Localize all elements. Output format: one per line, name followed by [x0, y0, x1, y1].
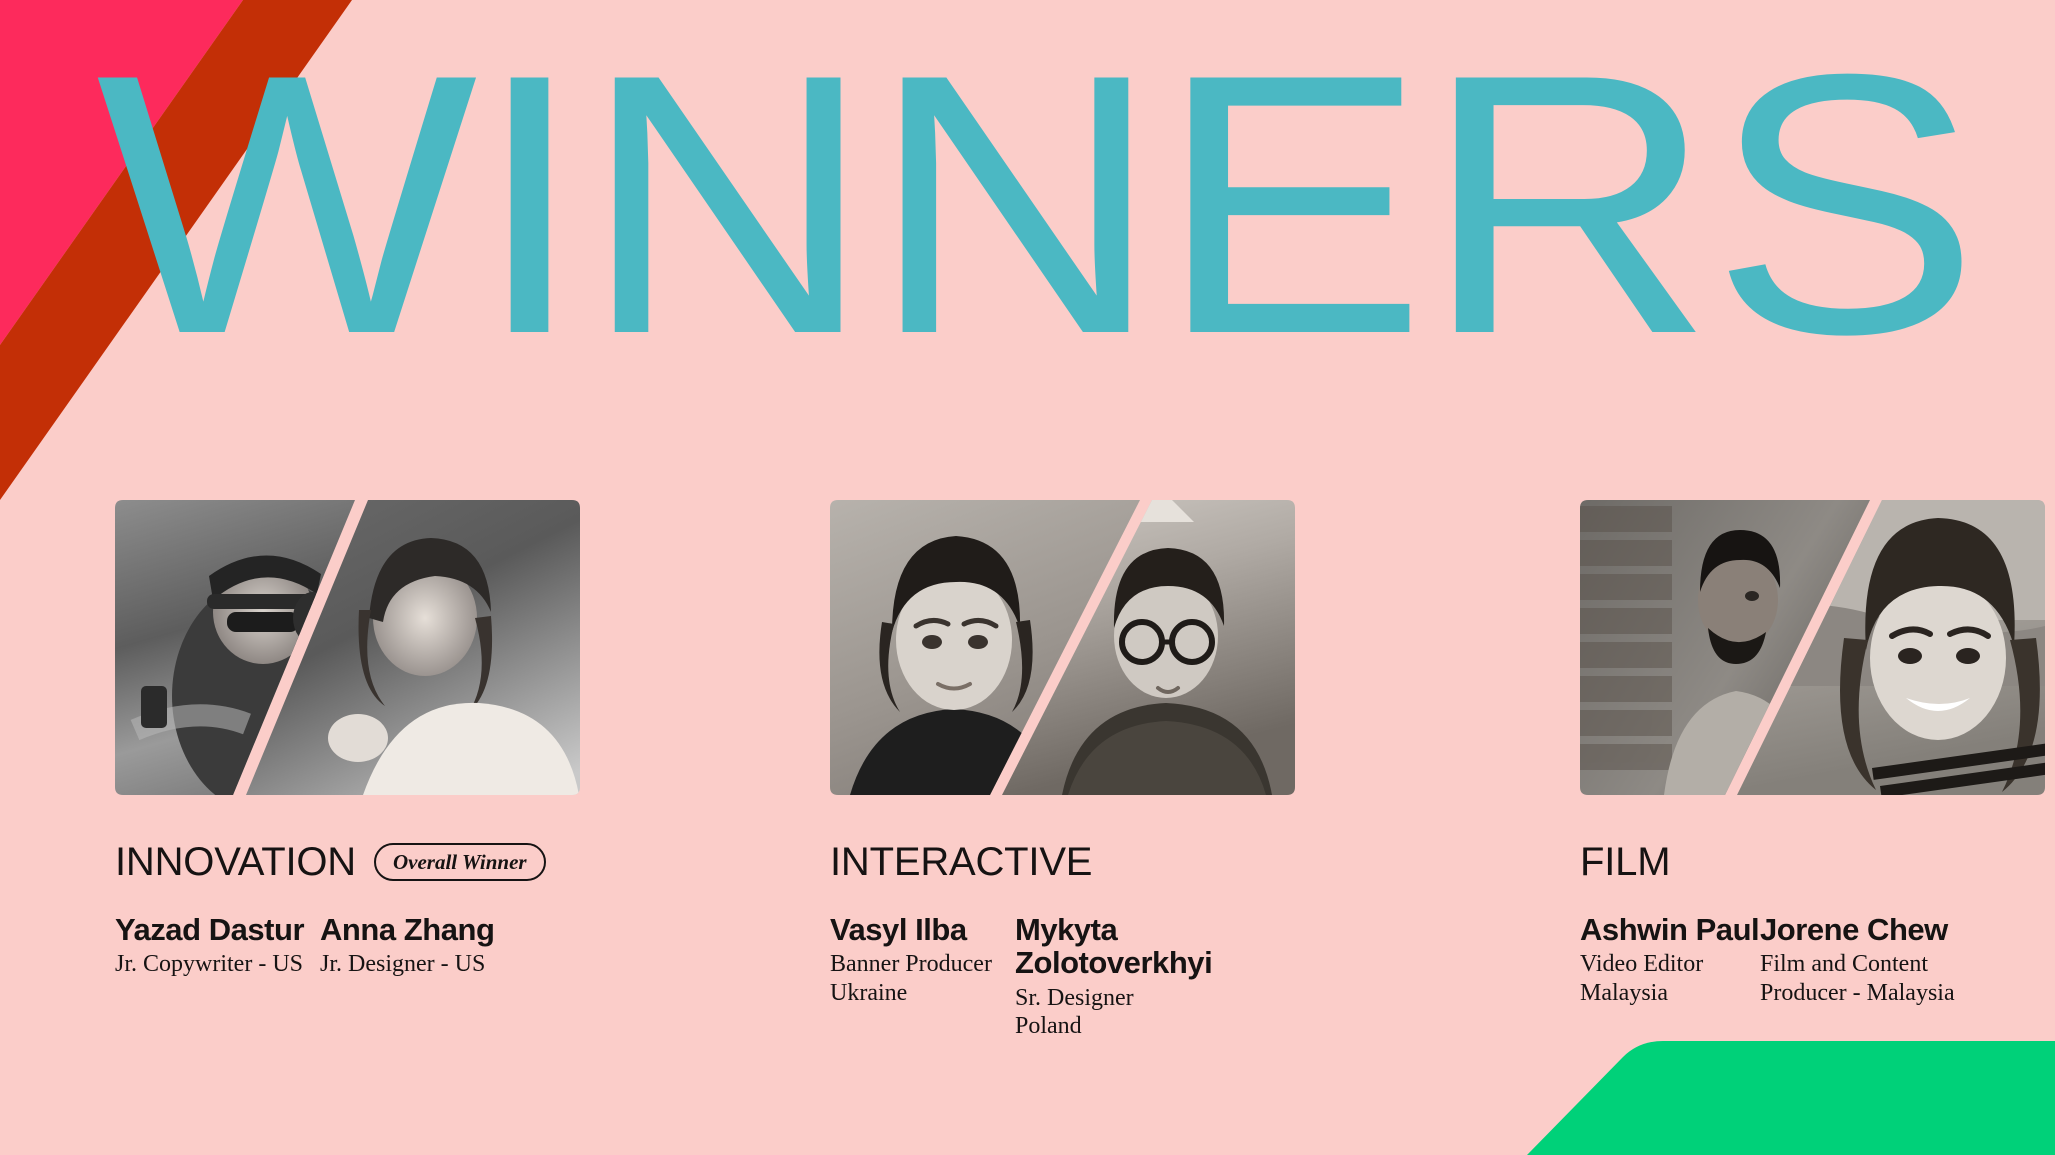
- category-heading-row: FILM: [1580, 839, 2055, 885]
- winner-role: Banner Producer Ukraine: [830, 950, 1015, 1007]
- winner-entry: Jorene Chew Film and Content Producer - …: [1760, 913, 1955, 1007]
- winner-entry: Anna Zhang Jr. Designer - US: [320, 913, 494, 979]
- winner-entry: Ashwin Paul Video Editor Malaysia: [1580, 913, 1760, 1007]
- winner-column-innovation: INNOVATION Overall Winner Yazad Dastur J…: [0, 500, 715, 1100]
- page-title: WINNERS: [96, 40, 1996, 370]
- headline-text: WINNERS: [96, 40, 1976, 370]
- winner-name: Vasyl Ilba: [830, 913, 1015, 946]
- category-heading-row: INNOVATION Overall Winner: [115, 839, 715, 885]
- category-title: INTERACTIVE: [830, 842, 1092, 882]
- winner-column-interactive: INTERACTIVE Vasyl Ilba Banner Producer U…: [715, 500, 1500, 1100]
- winner-list: Ashwin Paul Video Editor Malaysia Jorene…: [1580, 913, 2055, 1007]
- photo-pair-card: [1580, 500, 2045, 795]
- winner-column-film: FILM Ashwin Paul Video Editor Malaysia J…: [1500, 500, 2055, 1100]
- category-heading-row: INTERACTIVE: [830, 839, 1500, 885]
- winner-list: Yazad Dastur Jr. Copywriter - US Anna Zh…: [115, 913, 715, 979]
- winner-name: Mykyta Zolotoverkhyi: [1015, 913, 1212, 980]
- winner-entry: Mykyta Zolotoverkhyi Sr. Designer Poland: [1015, 913, 1212, 1041]
- winner-entry: Vasyl Ilba Banner Producer Ukraine: [830, 913, 1015, 1041]
- winner-name: Jorene Chew: [1760, 913, 1955, 946]
- winner-role: Jr. Designer - US: [320, 950, 494, 978]
- winner-role: Sr. Designer Poland: [1015, 984, 1212, 1041]
- winner-name: Anna Zhang: [320, 913, 494, 946]
- photo-pair-card: [830, 500, 1295, 795]
- winner-role: Film and Content Producer - Malaysia: [1760, 950, 1955, 1007]
- winner-name: Yazad Dastur: [115, 913, 320, 946]
- winner-list: Vasyl Ilba Banner Producer Ukraine Mykyt…: [830, 913, 1500, 1041]
- winner-role: Video Editor Malaysia: [1580, 950, 1760, 1007]
- winners-poster: WINNERS: [0, 0, 2055, 1155]
- winner-role: Jr. Copywriter - US: [115, 950, 320, 978]
- status-badge: Overall Winner: [374, 843, 546, 881]
- photo-pair-card: [115, 500, 580, 795]
- category-title: INNOVATION: [115, 842, 356, 882]
- winner-columns: INNOVATION Overall Winner Yazad Dastur J…: [0, 500, 2055, 1100]
- winner-name: Ashwin Paul: [1580, 913, 1760, 946]
- category-title: FILM: [1580, 842, 1670, 882]
- winner-entry: Yazad Dastur Jr. Copywriter - US: [115, 913, 320, 979]
